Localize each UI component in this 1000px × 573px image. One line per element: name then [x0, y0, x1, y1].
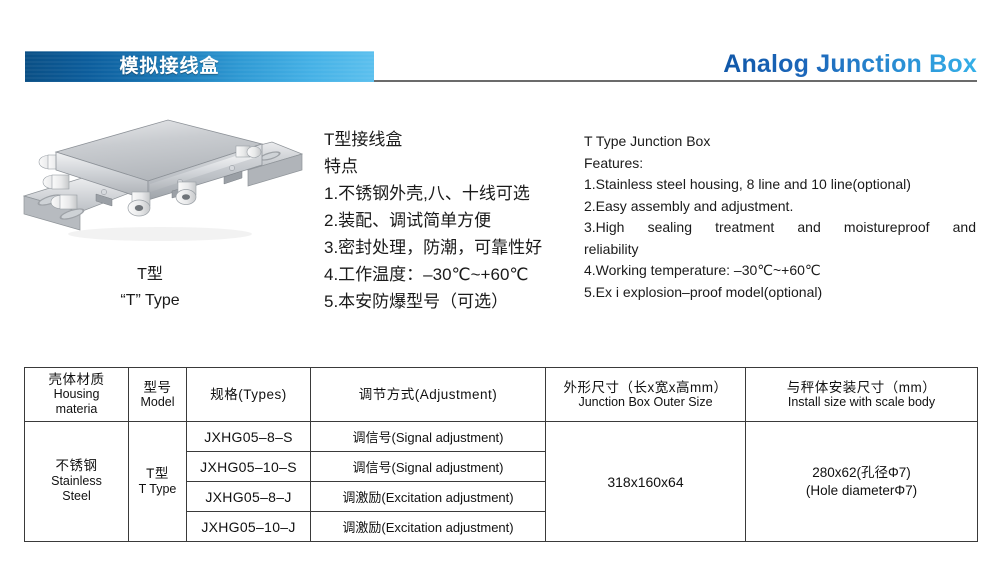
td-adjustment-2: 调信号(Signal adjustment)	[311, 452, 546, 482]
specification-table: 壳体材质 Housing materia 型号 Model 规格(Types) …	[24, 367, 978, 542]
td-housing-cn: 不锈钢	[29, 458, 124, 474]
th-adjustment-label: 调节方式(Adjustment)	[359, 387, 498, 402]
features-cn-item-3: 3.密封处理，防潮，可靠性好	[324, 234, 580, 261]
th-types: 规格(Types)	[187, 368, 311, 422]
features-list-en: T Type Junction Box Features: 1.Stainles…	[584, 131, 976, 303]
td-install-cn: 280x62(孔径Φ7)	[750, 464, 973, 482]
td-model-en: T Type	[133, 482, 182, 498]
section-title-en: Analog Junction Box	[723, 50, 977, 79]
junction-box-photo	[20, 108, 305, 258]
features-en-item-3: 3.High sealing treatment and moisturepro…	[584, 217, 976, 239]
page-header: 模拟接线盒 Analog Junction Box	[0, 0, 1000, 96]
th-model-en: Model	[133, 395, 182, 410]
td-adjustment-3: 调激励(Excitation adjustment)	[311, 482, 546, 512]
features-list-cn: T型接线盒 特点 1.不锈钢外壳,八、十线可选 2.装配、调试简单方便 3.密封…	[324, 126, 580, 315]
td-outer-size: 318x160x64	[546, 422, 746, 542]
features-en-item-3-cont: reliability	[584, 239, 976, 261]
td-adjustment-4: 调激励(Excitation adjustment)	[311, 512, 546, 542]
table-header-row: 壳体材质 Housing materia 型号 Model 规格(Types) …	[25, 368, 978, 422]
features-en-subheading: Features:	[584, 153, 976, 175]
features-cn-item-2: 2.装配、调试简单方便	[324, 207, 580, 234]
th-outer-cn: 外形尺寸（长x宽x高mm）	[550, 380, 741, 395]
th-housing-cn: 壳体材质	[29, 372, 124, 387]
td-type-2: JXHG05–10–S	[187, 452, 311, 482]
features-en-item-1: 1.Stainless steel housing, 8 line and 10…	[584, 174, 976, 196]
td-install-size: 280x62(孔径Φ7) (Hole diameterΦ7)	[746, 422, 978, 542]
features-en-heading: T Type Junction Box	[584, 131, 976, 153]
th-model: 型号 Model	[129, 368, 187, 422]
th-housing-en-1: Housing	[29, 387, 124, 402]
product-caption-cn: T型	[20, 260, 280, 284]
features-en-item-2: 2.Easy assembly and adjustment.	[584, 196, 976, 218]
td-housing-material: 不锈钢 Stainless Steel	[25, 422, 129, 542]
td-type-4: JXHG05–10–J	[187, 512, 311, 542]
th-outer-en: Junction Box Outer Size	[550, 395, 741, 410]
features-cn-heading: T型接线盒	[324, 126, 580, 153]
td-model: T型 T Type	[129, 422, 187, 542]
features-cn-item-4: 4.工作温度：–30℃~+60℃	[324, 261, 580, 288]
th-housing-material: 壳体材质 Housing materia	[25, 368, 129, 422]
th-outer-size: 外形尺寸（长x宽x高mm） Junction Box Outer Size	[546, 368, 746, 422]
th-housing-en-2: materia	[29, 402, 124, 417]
cable-glands-right	[236, 146, 261, 158]
td-housing-en-2: Steel	[29, 489, 124, 505]
header-divider-rule	[374, 80, 977, 82]
section-title-bar: 模拟接线盒	[25, 51, 374, 82]
td-adjustment-1: 调信号(Signal adjustment)	[311, 422, 546, 452]
td-type-3: JXHG05–8–J	[187, 482, 311, 512]
features-cn-item-5: 5.本安防爆型号（可选）	[324, 288, 580, 315]
table-row: 不锈钢 Stainless Steel T型 T Type JXHG05–8–S…	[25, 422, 978, 452]
td-install-en: (Hole diameterΦ7)	[750, 482, 973, 500]
th-install-en: Install size with scale body	[750, 395, 973, 410]
td-type-1: JXHG05–8–S	[187, 422, 311, 452]
section-title-cn: 模拟接线盒	[25, 51, 374, 82]
th-adjustment: 调节方式(Adjustment)	[311, 368, 546, 422]
th-install-cn: 与秤体安装尺寸（mm）	[750, 380, 973, 395]
th-types-label: 规格(Types)	[210, 387, 287, 402]
features-en-item-4: 4.Working temperature: –30℃~+60℃	[584, 260, 976, 282]
features-en-item-5: 5.Ex i explosion–proof model(optional)	[584, 282, 976, 304]
td-housing-en-1: Stainless	[29, 474, 124, 490]
features-cn-item-1: 1.不锈钢外壳,八、十线可选	[324, 180, 580, 207]
product-figure: T型 “T” Type	[20, 108, 310, 308]
features-cn-subheading: 特点	[324, 153, 580, 180]
th-model-cn: 型号	[133, 380, 182, 395]
th-install-size: 与秤体安装尺寸（mm） Install size with scale body	[746, 368, 978, 422]
td-model-cn: T型	[133, 466, 182, 482]
product-caption-en: “T” Type	[20, 292, 280, 310]
